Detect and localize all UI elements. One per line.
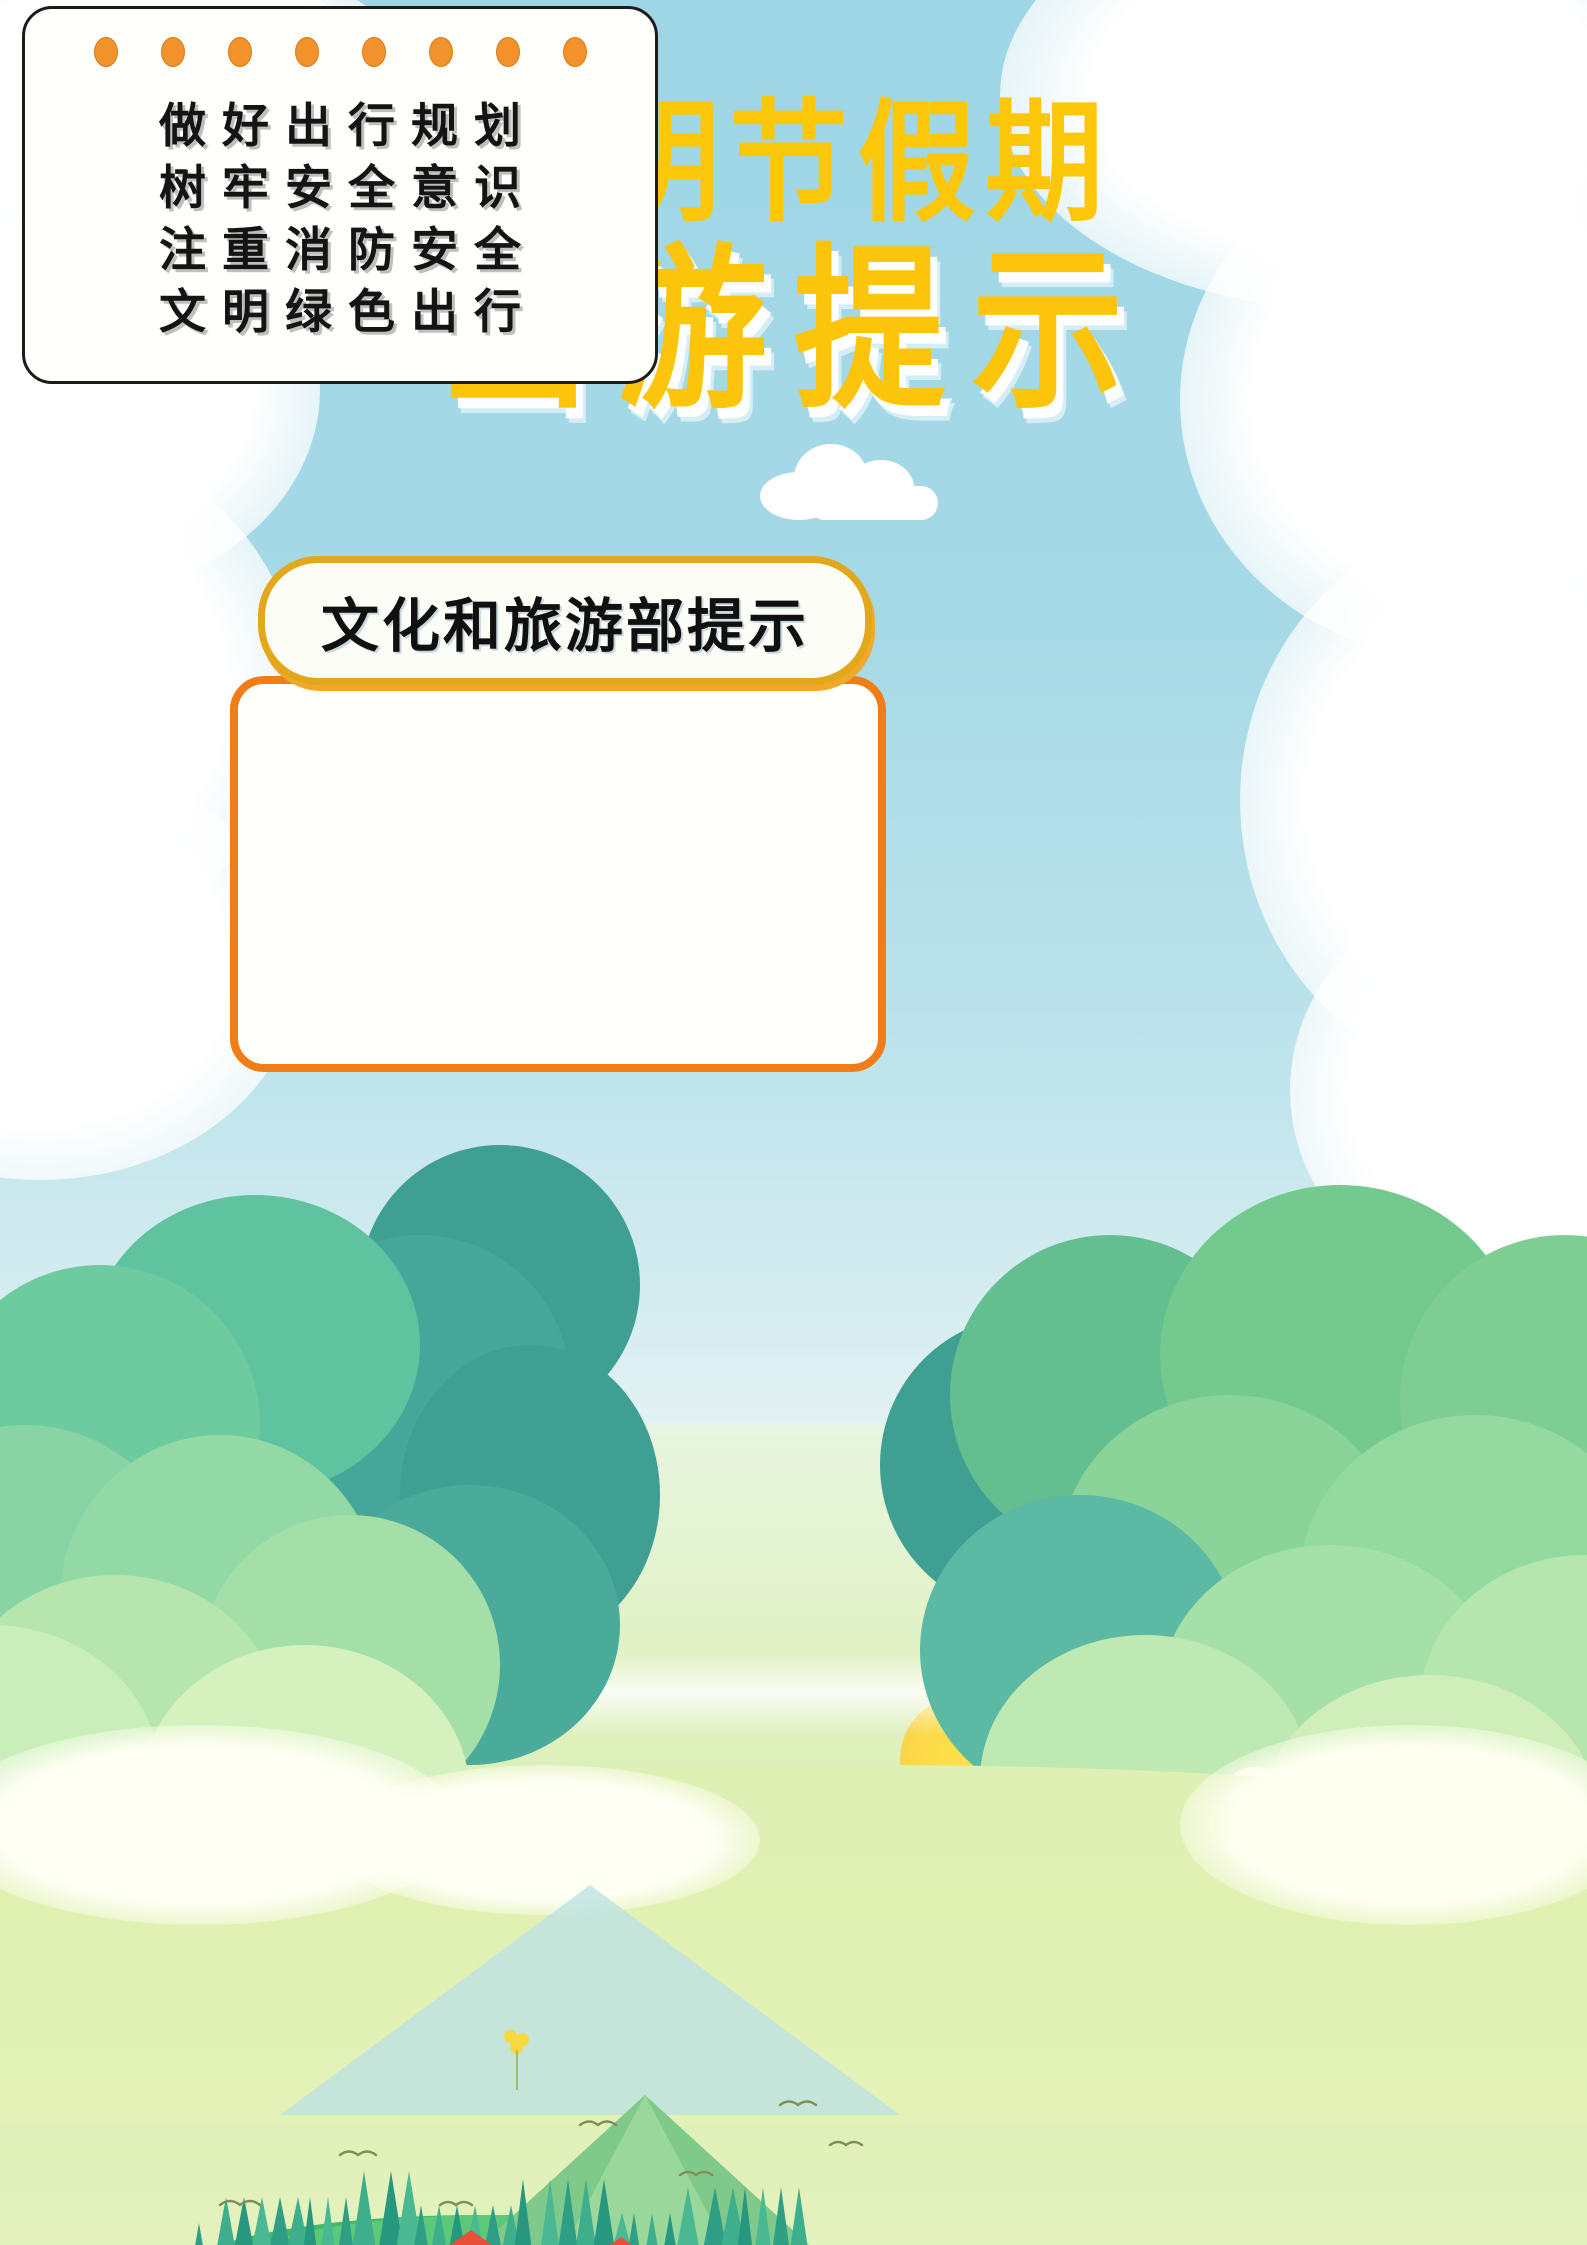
- tips-card-outer: [230, 676, 886, 1072]
- binder-dot: [94, 37, 118, 67]
- binder-dots: [25, 37, 655, 67]
- binder-dot: [295, 37, 319, 67]
- ministry-badge: 文化和旅游部提示: [258, 556, 872, 685]
- landscape-illustration: [0, 1125, 1587, 2245]
- tips-card: 做好出行规划树牢安全意识注重消防安全文明绿色出行: [22, 6, 658, 384]
- tips-line: 文明绿色出行: [25, 281, 655, 343]
- tips-lines: 做好出行规划树牢安全意识注重消防安全文明绿色出行: [25, 95, 655, 343]
- tips-line: 树牢安全意识: [25, 157, 655, 219]
- tree-canopy-right: [860, 1125, 1587, 1815]
- binder-dot: [362, 37, 386, 67]
- poster-canvas: 清明节假期 出游提示 文化和旅游部提示 做好出行规划树牢安全意识注重消防安全文明…: [0, 0, 1587, 2245]
- distant-mountain: [280, 1885, 900, 2115]
- tree-canopy-left-dark: [0, 1125, 760, 1785]
- tips-line: 做好出行规划: [25, 95, 655, 157]
- cloud-small-mid: [760, 440, 950, 520]
- binder-dot: [429, 37, 453, 67]
- binder-dot: [161, 37, 185, 67]
- binder-dot: [228, 37, 252, 67]
- birds: [180, 2085, 880, 2245]
- tips-line: 注重消防安全: [25, 219, 655, 281]
- binder-dot: [496, 37, 520, 67]
- ministry-badge-label: 文化和旅游部提示: [321, 579, 809, 663]
- flower-stem: [516, 2050, 518, 2090]
- binder-dot: [563, 37, 587, 67]
